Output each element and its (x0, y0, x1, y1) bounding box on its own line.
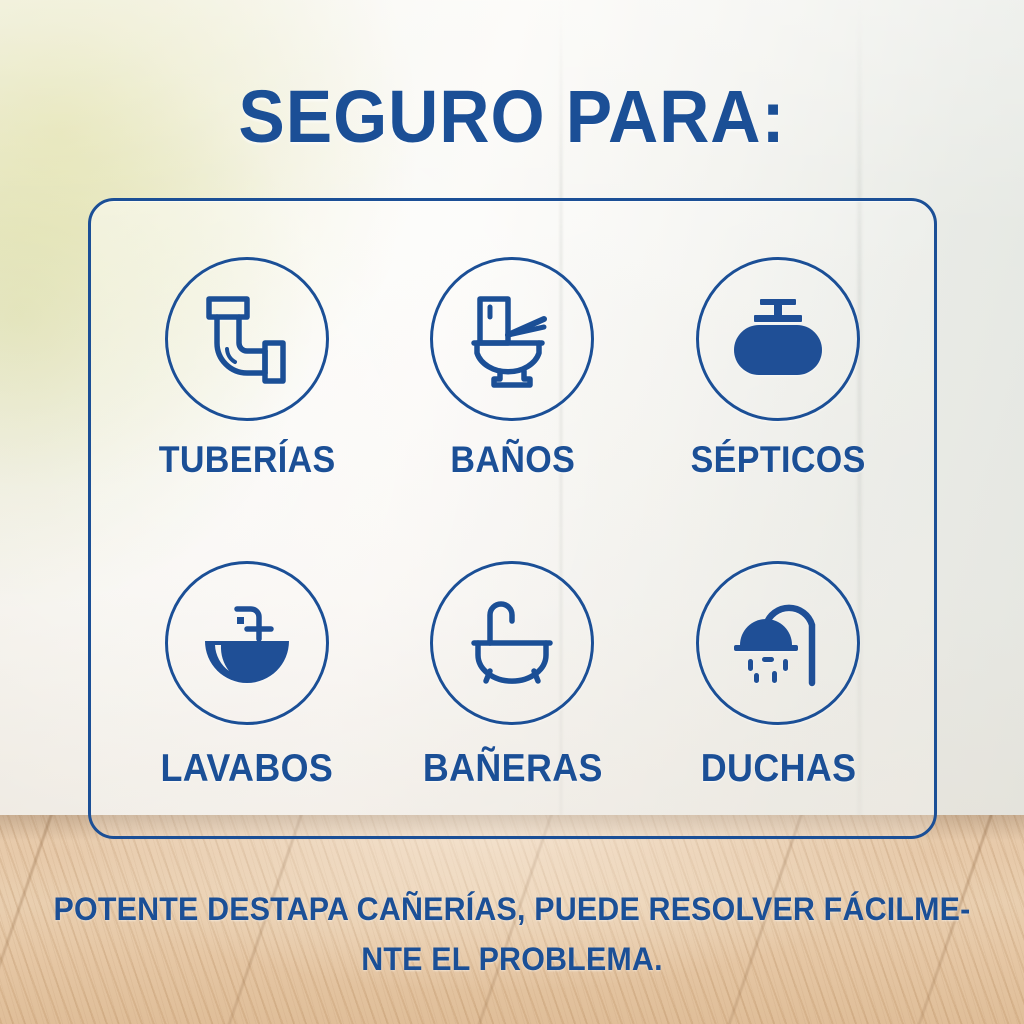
toilet-icon (430, 257, 594, 421)
shower-head-icon (696, 561, 860, 725)
page-title: SEGURO PARA: (31, 74, 994, 159)
bathtub-icon (430, 561, 594, 725)
features-grid: TUBERÍAS (88, 198, 937, 839)
footer-caption-line2: NTE EL PROBLEMA. (26, 934, 999, 984)
feature-label: BAÑOS (450, 439, 575, 481)
pipe-elbow-icon (165, 257, 329, 421)
feature-item-septic[interactable]: SÉPTICOS (645, 257, 911, 481)
footer-caption-line1: POTENTE DESTAPA CAÑERÍAS, PUEDE RESOLVER… (54, 891, 971, 927)
sink-basin-icon (165, 561, 329, 725)
feature-item-sinks[interactable]: LAVABOS (114, 561, 380, 791)
feature-item-pipes[interactable]: TUBERÍAS (114, 257, 380, 481)
septic-tank-icon (696, 257, 860, 421)
poster-canvas: SEGURO PARA: TUBERÍAS (0, 0, 1024, 1024)
feature-label: SÉPTICOS (691, 439, 866, 481)
feature-item-bathtubs[interactable]: BAÑERAS (380, 561, 646, 791)
feature-item-showers[interactable]: DUCHAS (645, 561, 911, 791)
feature-label: BAÑERAS (422, 747, 602, 791)
footer-caption: POTENTE DESTAPA CAÑERÍAS, PUEDE RESOLVER… (26, 884, 999, 984)
feature-item-toilets[interactable]: BAÑOS (380, 257, 646, 481)
feature-label: LAVABOS (160, 747, 333, 791)
feature-label: TUBERÍAS (158, 439, 335, 481)
feature-label: DUCHAS (700, 747, 856, 791)
